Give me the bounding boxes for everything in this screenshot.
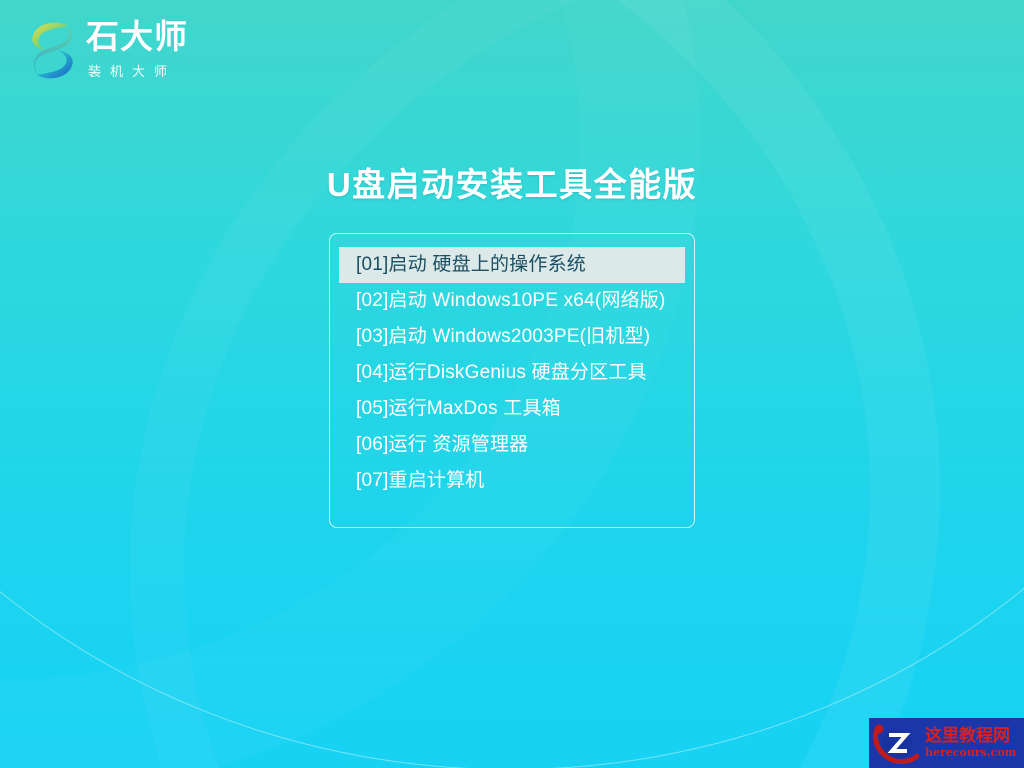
boot-menu-box: [01]启动 硬盘上的操作系统 [02]启动 Windows10PE x64(网… (329, 233, 695, 528)
watermark-site-name: 这里教程网 (925, 727, 1016, 746)
menu-item-06[interactable]: [06]运行 资源管理器 (339, 427, 685, 463)
menu-item-05[interactable]: [05]运行MaxDos 工具箱 (339, 391, 685, 427)
brand-text: 石大师 装机大师 (86, 18, 188, 80)
brand-name: 石大师 (86, 20, 188, 55)
page-title: U盘启动安装工具全能版 (0, 158, 1024, 206)
menu-item-02[interactable]: [02]启动 Windows10PE x64(网络版) (339, 283, 685, 319)
menu-item-07[interactable]: [07]重启计算机 (339, 463, 685, 499)
watermark-badge: 这里教程网 herecours.com (869, 718, 1024, 768)
boot-menu-screen: 石大师 装机大师 U盘启动安装工具全能版 [01]启动 硬盘上的操作系统 [02… (0, 0, 1024, 768)
brand-logo: 石大师 装机大师 (24, 18, 188, 84)
menu-item-04[interactable]: [04]运行DiskGenius 硬盘分区工具 (339, 355, 685, 391)
menu-item-03[interactable]: [03]启动 Windows2003PE(旧机型) (339, 319, 685, 355)
menu-item-01[interactable]: [01]启动 硬盘上的操作系统 (339, 247, 685, 283)
watermark-text: 这里教程网 herecours.com (925, 727, 1016, 760)
brand-subtitle: 装机大师 (86, 61, 188, 80)
watermark-url: herecours.com (925, 746, 1016, 759)
z-globe-swoosh-icon (871, 720, 923, 766)
stone-master-s-logo-icon (24, 18, 80, 84)
boot-menu-list: [01]启动 硬盘上的操作系统 [02]启动 Windows10PE x64(网… (330, 247, 694, 499)
